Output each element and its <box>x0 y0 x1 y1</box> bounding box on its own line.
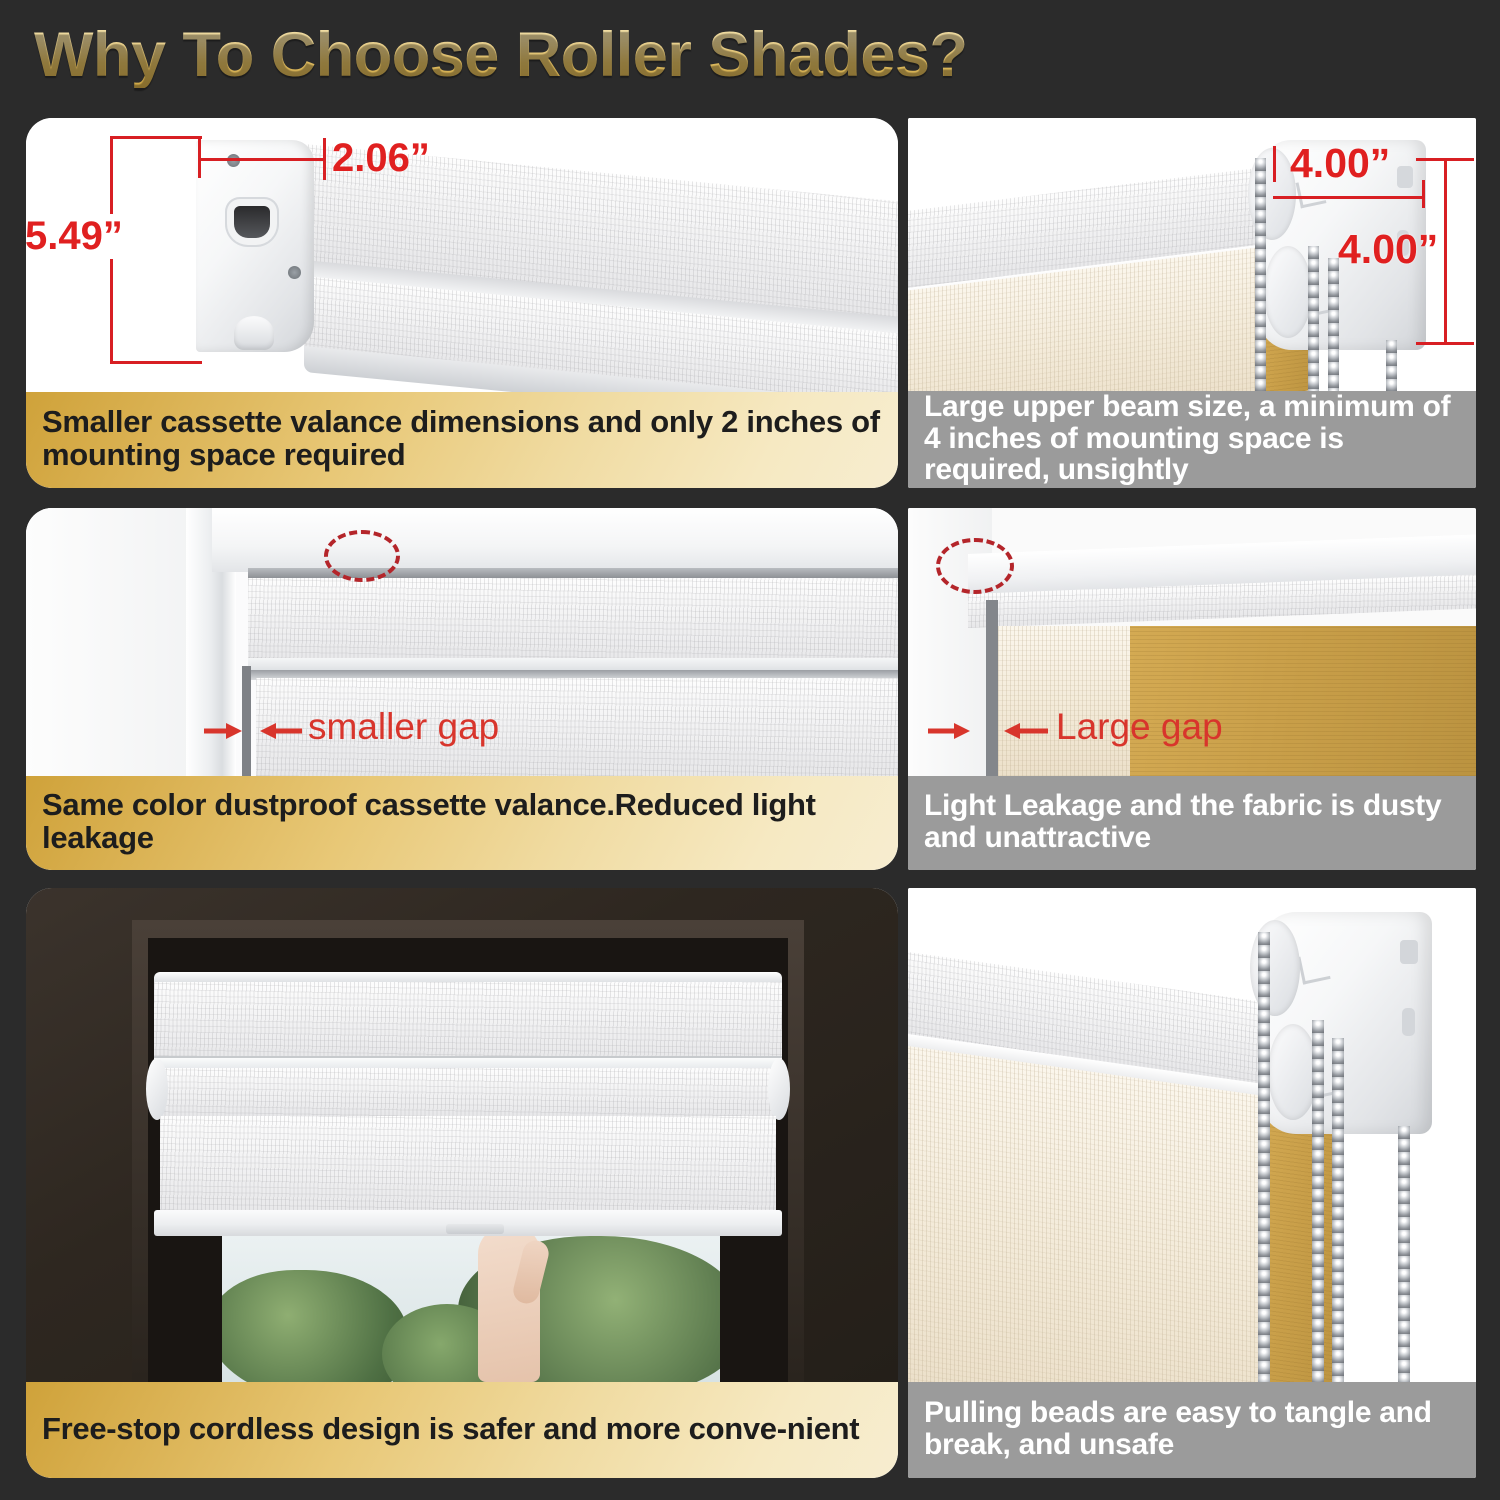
width-dimension-tick-left <box>198 136 201 178</box>
bracket-slot-side <box>1402 1008 1415 1036</box>
pull-chain-middle[interactable] <box>1308 246 1319 391</box>
beam-width-line <box>1273 196 1425 199</box>
caption-top-left-text: Smaller cassette valance dimensions and … <box>42 406 882 472</box>
roller-cover-band <box>154 1068 782 1118</box>
beam-width-tick-right <box>1422 180 1425 208</box>
panel-bottom-left: Free-stop cordless design is safer and m… <box>26 888 898 1478</box>
beam-height-label: 4.00” <box>1338 226 1438 273</box>
pull-bead-chain-1[interactable] <box>1258 932 1270 1382</box>
gap-arrow-right <box>258 720 302 742</box>
caption-bottom-right-text: Pulling beads are easy to tangle and bre… <box>924 1397 1460 1461</box>
panel-top-left: 5.49” 2.06” Smaller cassette valance dim… <box>26 118 898 488</box>
height-dimension-tick-bottom <box>110 361 202 364</box>
roller-end-disc-lower <box>1264 246 1312 338</box>
roller-end-cap-right <box>768 1058 790 1120</box>
gap-arrow-left <box>204 720 244 742</box>
caption-bottom-left: Free-stop cordless design is safer and m… <box>26 1382 898 1478</box>
roller-disc-lower <box>1268 1024 1318 1120</box>
width-dimension-line <box>198 158 326 161</box>
caption-mid-right-text: Light Leakage and the fabric is dusty an… <box>924 790 1460 854</box>
cassette-valance-face-bottom <box>154 982 782 1062</box>
cassette-mechanism-slot <box>234 206 270 238</box>
tree-foliage-left <box>222 1270 408 1382</box>
pull-chain-left[interactable] <box>1255 158 1266 391</box>
pull-chain-right[interactable] <box>1328 258 1339 391</box>
bracket-slot-upper <box>1397 166 1413 188</box>
bracket-slot-top <box>1400 940 1418 964</box>
bracket-arrow-icon-upper <box>1297 951 1330 984</box>
beam-height-tick-bottom <box>1416 342 1474 345</box>
pull-bead-chain-4[interactable] <box>1398 1126 1410 1382</box>
photo-light-leakage: Large gap <box>908 508 1476 776</box>
panel-mid-right: Large gap Light Leakage and the fabric i… <box>908 508 1476 870</box>
panel-bottom-right: Pulling beads are easy to tangle and bre… <box>908 888 1476 1478</box>
beam-width-label: 4.00” <box>1290 140 1390 187</box>
window-wall <box>26 508 196 776</box>
light-leak-highlight-ring <box>936 538 1014 594</box>
caption-bottom-right: Pulling beads are easy to tangle and bre… <box>908 1382 1476 1478</box>
end-cap-bracket-clip <box>234 316 274 350</box>
cassette-valance-face <box>248 578 898 664</box>
panel-mid-left: smaller gap Same color dustproof cassett… <box>26 508 898 870</box>
caption-top-right: Large upper beam size, a minimum of 4 in… <box>908 391 1476 488</box>
dustproof-seal-highlight-ring <box>324 530 400 582</box>
photo-dustproof-cassette: smaller gap <box>26 508 898 776</box>
shade-fabric-cream-hanging <box>908 1044 1268 1382</box>
page-title: Why To Choose Roller Shades? <box>34 22 967 88</box>
outdoor-view <box>222 1218 720 1382</box>
photo-pulling-beads <box>908 888 1476 1382</box>
panel-top-right: 4.00” 4.00” Large upper beam size, a min… <box>908 118 1476 488</box>
pull-bead-chain-3[interactable] <box>1332 1038 1344 1382</box>
bottom-rail-grip-tab <box>446 1224 504 1234</box>
caption-top-right-text: Large upper beam size, a minimum of 4 in… <box>924 391 1460 486</box>
width-dimension-label: 2.06” <box>332 136 430 181</box>
pull-chain-loop[interactable] <box>1386 340 1397 391</box>
photo-large-upper-beam: 4.00” 4.00” <box>908 118 1476 391</box>
caption-mid-right: Light Leakage and the fabric is dusty an… <box>908 776 1476 870</box>
height-dimension-tick-top <box>110 136 202 139</box>
smaller-gap-label: smaller gap <box>308 706 499 748</box>
photo-small-cassette-valance: 5.49” 2.06” <box>26 118 898 408</box>
large-gap-arrow-right <box>1002 720 1048 742</box>
shade-fabric-main <box>160 1116 776 1216</box>
width-dimension-tick-right <box>323 138 326 180</box>
shade-fabric-gold-dusty <box>1130 626 1476 776</box>
height-dimension-label: 5.49” <box>26 214 128 259</box>
pull-bead-chain-2[interactable] <box>1312 1020 1324 1382</box>
caption-mid-left: Same color dustproof cassette valance.Re… <box>26 776 898 870</box>
light-gap-dark-band <box>986 600 998 776</box>
window-frame-header <box>212 508 898 572</box>
large-gap-arrow-left <box>928 720 972 742</box>
caption-mid-left-text: Same color dustproof cassette valance.Re… <box>42 789 882 855</box>
roller-end-cap-left <box>146 1058 168 1120</box>
large-gap-label: Large gap <box>1056 706 1223 748</box>
photo-cordless-window-scene <box>26 888 898 1382</box>
caption-bottom-left-text: Free-stop cordless design is safer and m… <box>42 1413 859 1446</box>
end-cap-screw-mid <box>288 266 301 279</box>
shade-fabric-gold-backing-lower <box>1260 1098 1340 1382</box>
infographic-root: Why To Choose Roller Shades? 5.49” <box>0 0 1500 1500</box>
beam-width-tick-left <box>1273 146 1276 182</box>
beam-height-line <box>1444 158 1447 344</box>
caption-top-left: Smaller cassette valance dimensions and … <box>26 392 898 488</box>
